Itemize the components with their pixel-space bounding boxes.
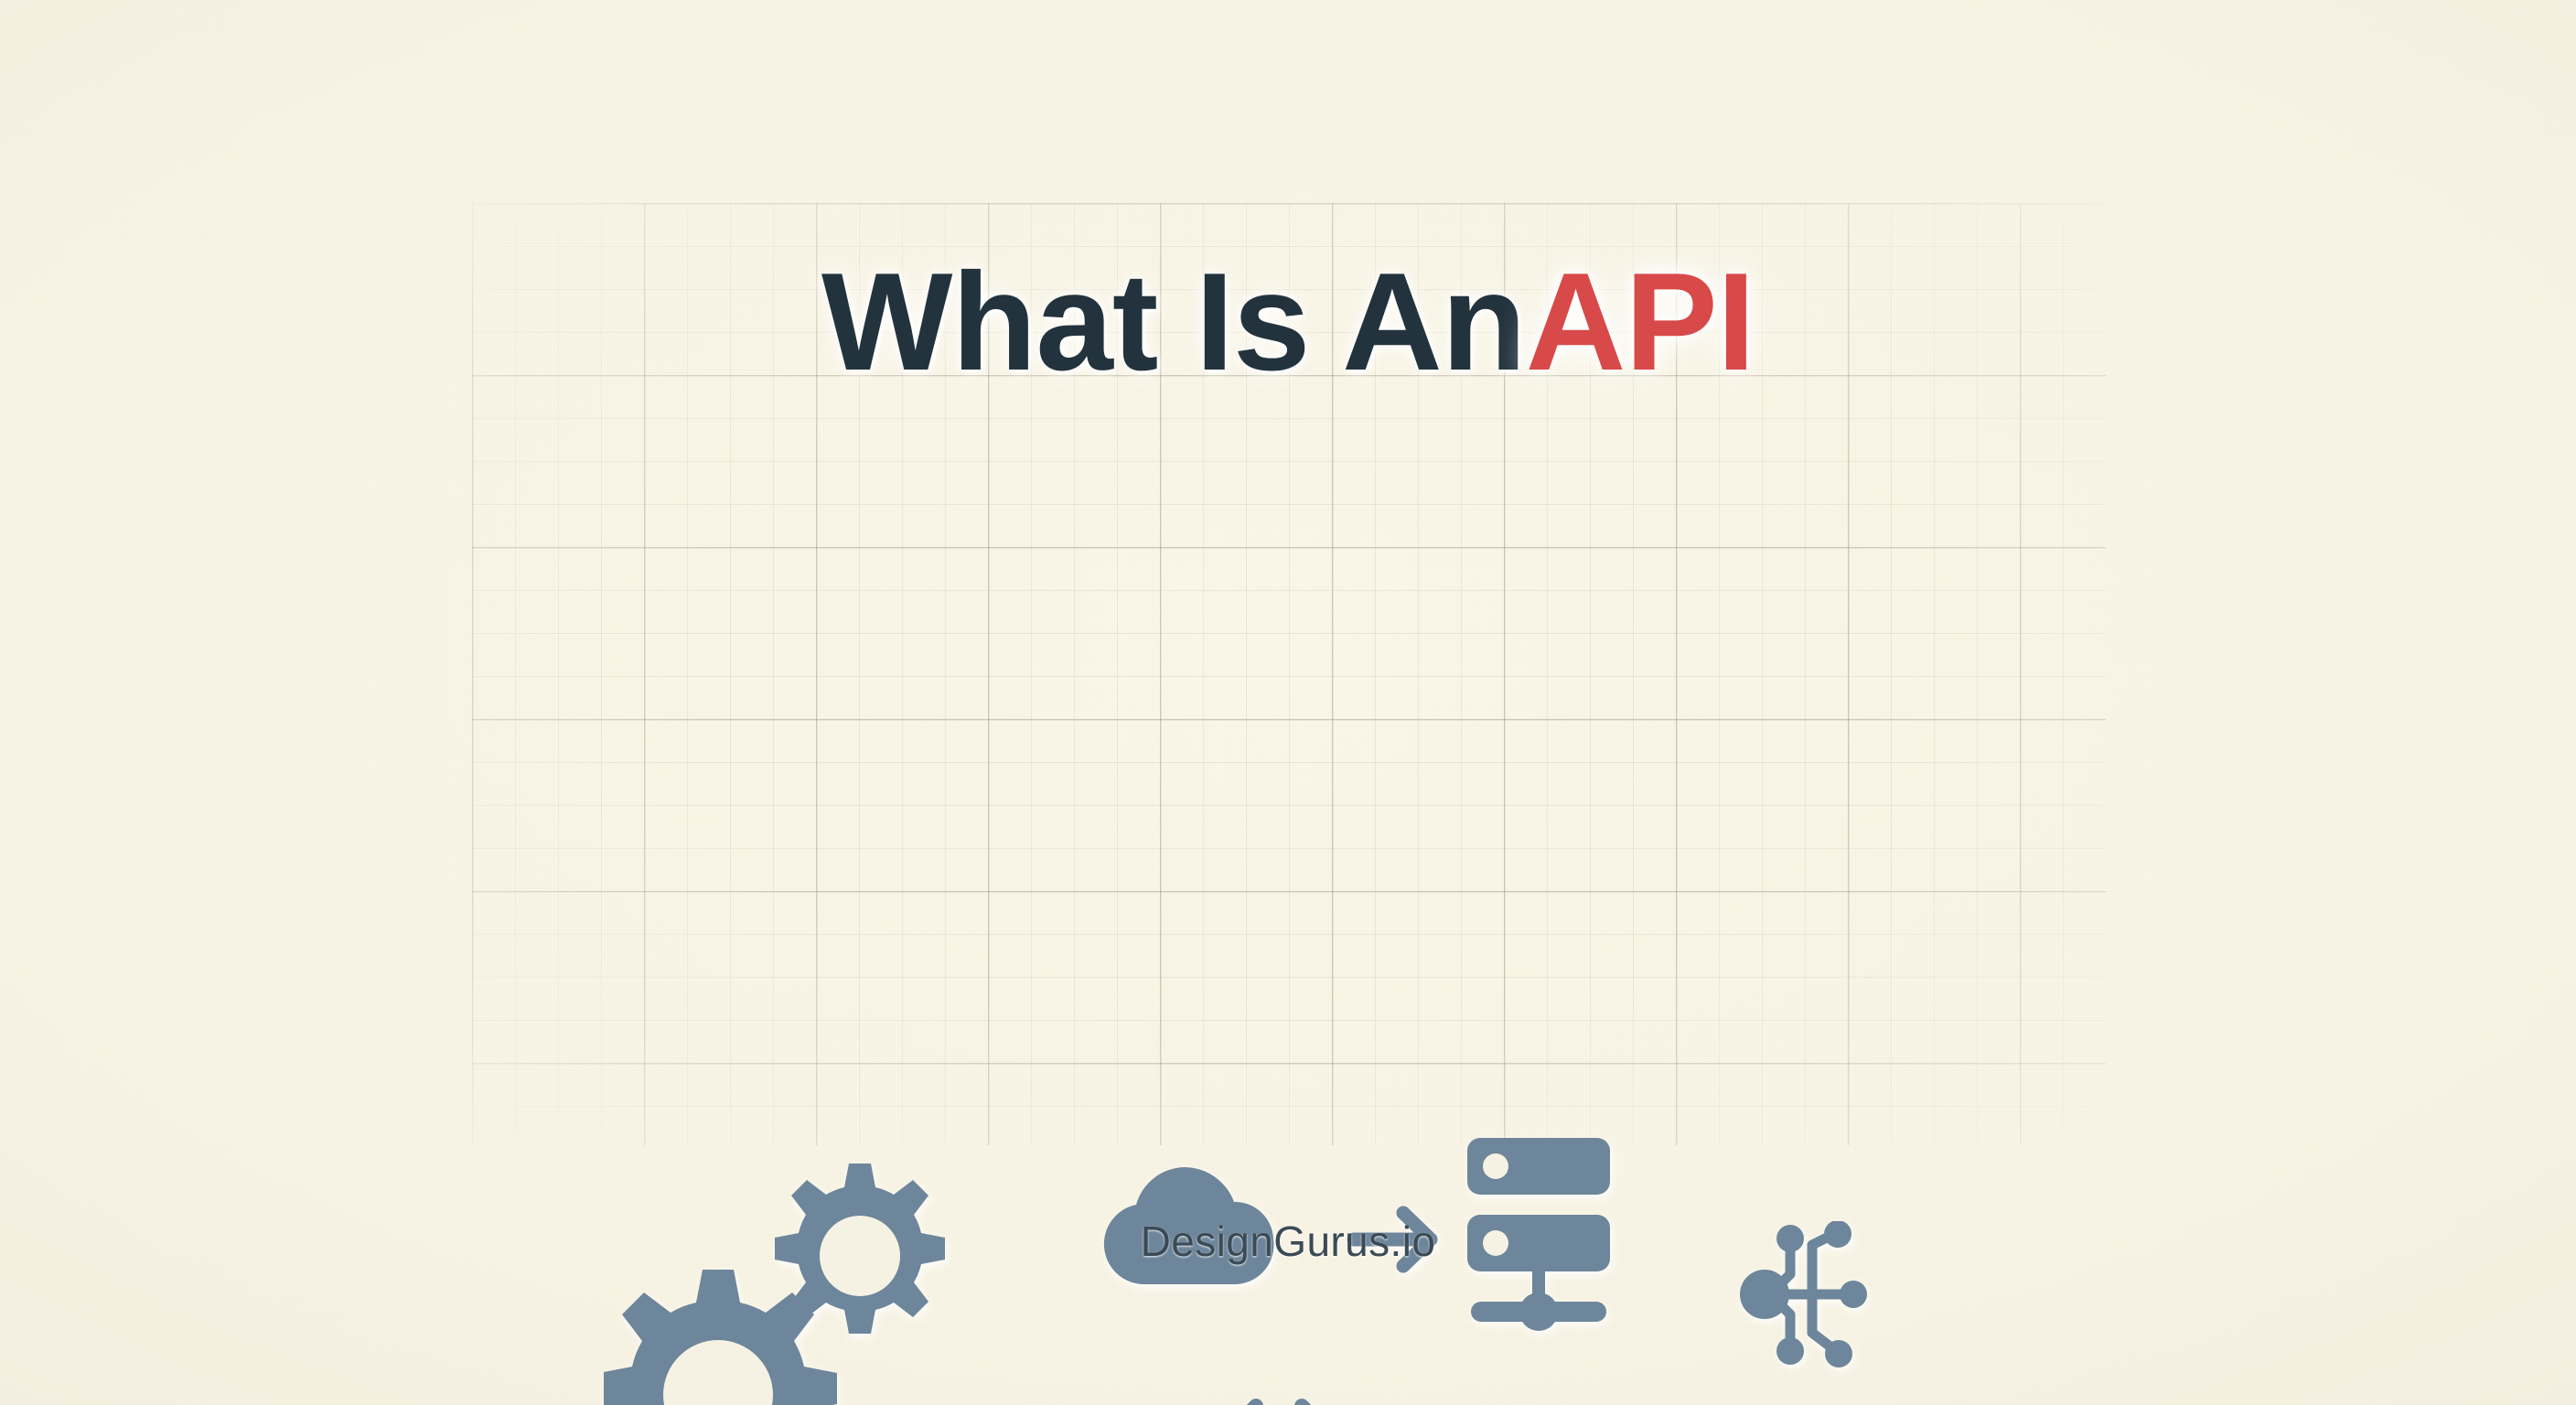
- title-accent-text: API: [1526, 252, 1755, 391]
- icon-row: [0, 567, 2576, 1024]
- title-lead-text: What Is An: [821, 252, 1526, 391]
- footer: DesignGurus.io: [0, 1217, 2576, 1266]
- poster-canvas: What Is An API: [0, 0, 2576, 1405]
- code-brackets-icon: [1206, 1395, 1352, 1405]
- gears-icon: [604, 1153, 970, 1405]
- page-title: What Is An API: [0, 252, 2576, 391]
- brand-name: DesignGurus.io: [1141, 1217, 1436, 1265]
